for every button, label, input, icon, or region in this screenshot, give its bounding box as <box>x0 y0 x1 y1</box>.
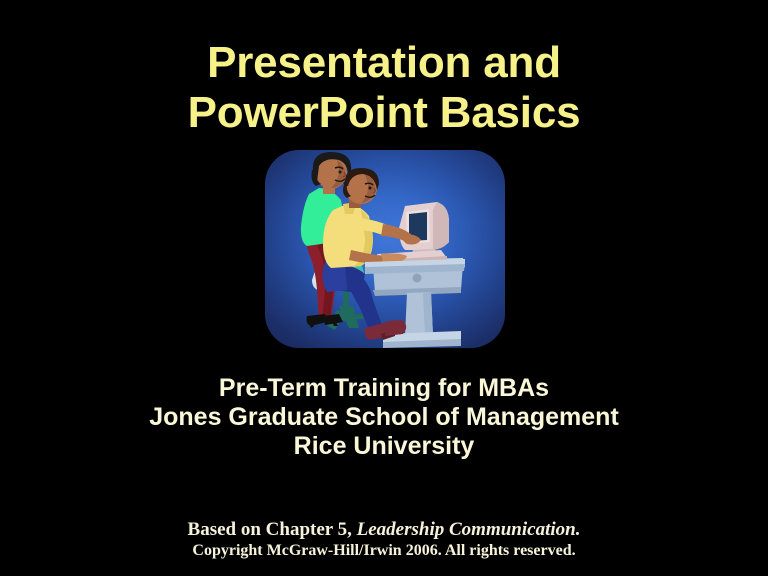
two-people-at-computer-clipart <box>265 150 505 348</box>
copyright-notice: Copyright McGraw-Hill/Irwin 2006. All ri… <box>0 541 768 561</box>
subtitle-line-1: Pre-Term Training for MBAs <box>0 374 768 403</box>
title-line-1: Presentation and <box>0 38 768 88</box>
clipart-illustration <box>265 150 505 348</box>
slide-footer: Based on Chapter 5, Leadership Communica… <box>0 519 768 561</box>
slide-subtitle: Pre-Term Training for MBAs Jones Graduat… <box>0 374 768 461</box>
source-work-title: Leadership Communication. <box>357 519 581 540</box>
subtitle-line-2: Jones Graduate School of Management <box>0 403 768 432</box>
source-attribution: Based on Chapter 5, Leadership Communica… <box>0 519 768 541</box>
title-line-2: PowerPoint Basics <box>0 88 768 138</box>
presentation-slide: Presentation and PowerPoint Basics <box>0 0 768 576</box>
source-prefix: Based on Chapter 5, <box>188 519 357 540</box>
slide-title: Presentation and PowerPoint Basics <box>0 38 768 138</box>
subtitle-line-3: Rice University <box>0 432 768 461</box>
crt-monitor <box>399 202 449 257</box>
